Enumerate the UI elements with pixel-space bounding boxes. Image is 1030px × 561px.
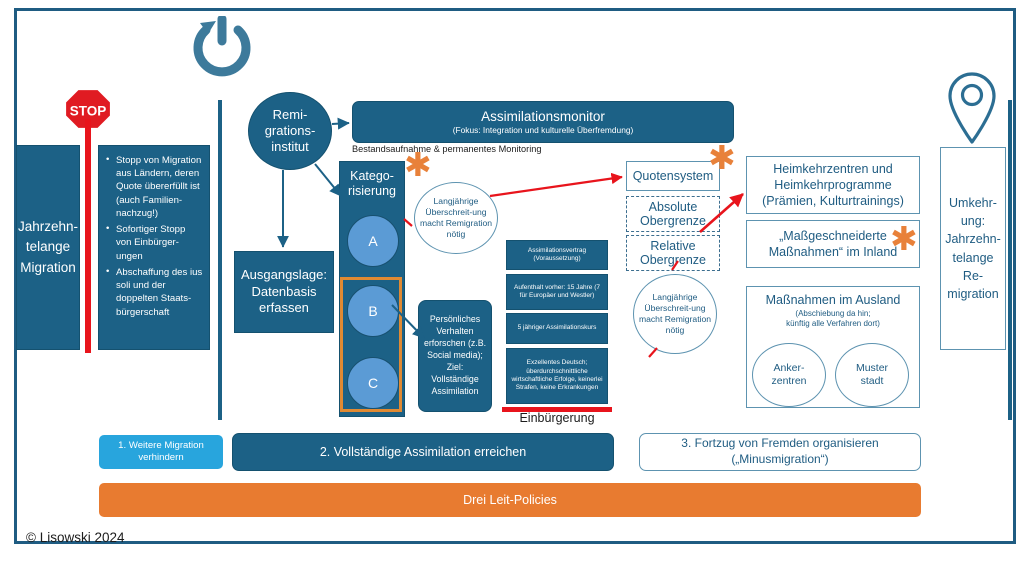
outcome-remigration-box: Umkehr- ung: Jahrzehn- telange Re- migra… xyxy=(940,147,1006,350)
requirement-box-2: Aufenthalt vorher: 15 Jahre (7 für Europ… xyxy=(506,274,608,310)
bubble-categorisation-note: Langjährige Überschreit-ung macht Remigr… xyxy=(414,182,498,254)
personal-behaviour-label: Persönliches Verhalten erforschen (z.B. … xyxy=(423,314,487,397)
three-lead-policies-bar: Drei Leit-Policies xyxy=(99,483,921,517)
remigration-institute-node: Remi- grations- institut xyxy=(248,92,332,170)
category-circle-a: A xyxy=(347,215,399,267)
assimilation-monitor-title: Assimilationsmonitor xyxy=(481,109,605,124)
bubble-quota-text: Langjährige Überschreit-ung macht Remigr… xyxy=(634,292,716,337)
absolute-limit-box: Absolute Obergrenze xyxy=(626,196,720,232)
red-stop-bar xyxy=(85,119,91,353)
measures-stop-items: Stopp von Migration aus Ländern, deren Q… xyxy=(105,154,203,322)
absolute-limit-label: Absolute Obergrenze xyxy=(640,200,706,229)
three-lead-policies-label: Drei Leit-Policies xyxy=(463,493,557,507)
status-box-migration: Jahrzehn- telange Migration xyxy=(16,145,80,350)
svg-text:STOP: STOP xyxy=(70,104,107,119)
policy-1-label: 1. Weitere Migration verhindern xyxy=(100,440,222,465)
assimilation-monitor-box: Assimilationsmonitor (Fokus: Integration… xyxy=(352,101,734,143)
model-city-node: Muster stadt xyxy=(835,343,909,407)
quota-system-label: Quotensystem xyxy=(633,169,714,183)
outcome-remigration-label: Umkehr- ung: Jahrzehn- telange Re- migra… xyxy=(945,194,1001,303)
requirement-box-3: 5 jähriger Assimilationskurs xyxy=(506,313,608,344)
requirement-4-label: Exzellentes Deutsch; überdurchschnittlic… xyxy=(511,359,603,392)
model-city-label: Muster stadt xyxy=(856,362,888,388)
list-item: Sofortiger Stopp von Einbürger-ungen xyxy=(116,223,203,263)
requirement-box-1: Assimilationsvertrag (Voraussetzung) xyxy=(506,240,608,270)
baseline-data-label: Ausgangslage: Datenbasis erfassen xyxy=(241,267,327,318)
naturalisation-label: Einbürgerung xyxy=(502,411,612,425)
monitoring-caption: Bestandsaufnahme & permanentes Monitorin… xyxy=(352,144,541,154)
requirement-box-4: Exzellentes Deutsch; überdurchschnittlic… xyxy=(506,348,608,404)
remigration-institute-label: Remi- grations- institut xyxy=(265,107,316,156)
requirement-2-label: Aufenthalt vorher: 15 Jahre (7 für Europ… xyxy=(511,284,603,301)
list-item: Abschaffung des ius soli und der doppelt… xyxy=(116,266,203,319)
bubble-categorisation-text: Langjährige Überschreit-ung macht Remigr… xyxy=(415,196,497,241)
measures-stop-list: Stopp von Migration aus Ländern, deren Q… xyxy=(98,145,210,350)
category-circle-b: B xyxy=(347,285,399,337)
relative-limit-label: Relative Obergrenze xyxy=(640,239,706,268)
vertical-divider-right xyxy=(1008,100,1012,420)
relative-limit-box: Relative Obergrenze xyxy=(626,235,720,271)
requirement-1-label: Assimilationsvertrag (Voraussetzung) xyxy=(511,247,603,264)
categorisation-label: Katego- risierung xyxy=(348,169,396,199)
location-pin-icon xyxy=(946,72,998,144)
diagram-canvas: STOP Jahrzehn- telange Migration Stopp v… xyxy=(0,0,1030,561)
anchor-centres-label: Anker- zentren xyxy=(771,362,806,388)
policy-3-line2: („Minusmigration“) xyxy=(731,452,828,468)
assimilation-monitor-subtitle: (Fokus: Integration und kulturelle Überf… xyxy=(453,125,634,135)
power-restart-icon xyxy=(186,16,258,78)
category-circle-c: C xyxy=(347,357,399,409)
star-icon-quota: ✱ xyxy=(708,141,736,174)
policy-2-label: 2. Vollständige Assimilation erreichen xyxy=(320,445,526,459)
vertical-divider-left xyxy=(218,100,222,420)
status-box-migration-label: Jahrzehn- telange Migration xyxy=(18,217,78,278)
requirement-3-label: 5 jähriger Assimilationskurs xyxy=(518,324,597,332)
policy-bar-1[interactable]: 1. Weitere Migration verhindern xyxy=(99,435,223,469)
list-item: Stopp von Migration aus Ländern, deren Q… xyxy=(116,154,203,220)
personal-behaviour-box: Persönliches Verhalten erforschen (z.B. … xyxy=(418,300,492,412)
measures-abroad-subtitle: (Abschiebung da hin; künftig alle Verfah… xyxy=(786,309,880,330)
return-centres-title: Heimkehrzentren und Heimkehrprogramme xyxy=(751,161,915,193)
bubble-quota-note: Langjährige Überschreit-ung macht Remigr… xyxy=(633,274,717,354)
quota-system-box: Quotensystem xyxy=(626,161,720,191)
baseline-data-box: Ausgangslage: Datenbasis erfassen xyxy=(234,251,334,333)
return-centres-subtitle: (Prämien, Kulturtrainings) xyxy=(762,193,904,209)
policy-3-line1: 3. Fortzug von Fremden organisieren xyxy=(681,436,878,452)
star-icon-tailored: ✱ xyxy=(890,222,918,255)
star-icon-categorisation: ✱ xyxy=(404,148,432,181)
copyright-text: © Lisowski 2024 xyxy=(26,530,125,545)
policy-bar-3[interactable]: 3. Fortzug von Fremden organisieren („Mi… xyxy=(639,433,921,471)
anchor-centres-node: Anker- zentren xyxy=(752,343,826,407)
policy-bar-2[interactable]: 2. Vollständige Assimilation erreichen xyxy=(232,433,614,471)
measures-abroad-title: Maßnahmen im Ausland xyxy=(766,293,901,307)
return-centres-box: Heimkehrzentren und Heimkehrprogramme (P… xyxy=(746,156,920,214)
